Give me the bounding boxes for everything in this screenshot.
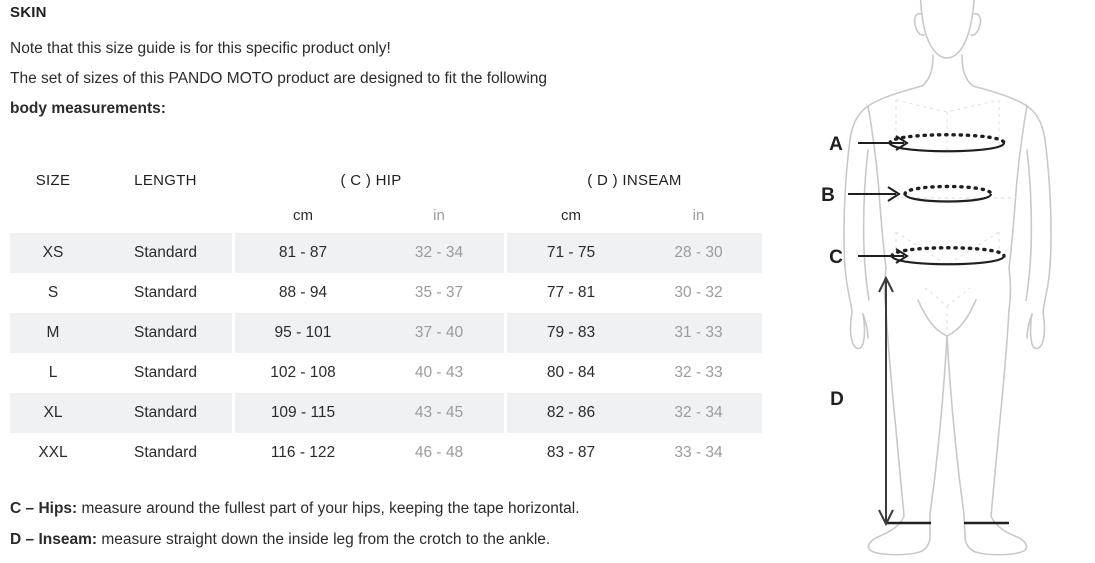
table-row: XXLStandard116 - 12246 - 4883 - 8733 - 3…	[10, 433, 762, 473]
cell-size: M	[10, 313, 96, 353]
column-header-hip: ( C ) HIP	[235, 163, 507, 197]
unit-header-inseam-cm: cm	[507, 197, 635, 233]
cell-hip-cm: 81 - 87	[235, 233, 371, 273]
size-guide-left-panel: SKIN Note that this size guide is for th…	[0, 0, 800, 563]
table-unit-header-row: cm in cm in	[10, 197, 762, 233]
cell-hip-in: 40 - 43	[371, 353, 507, 393]
cell-length: Standard	[96, 313, 235, 353]
table-row: XLStandard109 - 11543 - 4582 - 8632 - 34	[10, 393, 762, 433]
footnote-code: D	[10, 531, 21, 548]
inseam-measure-arrow	[879, 278, 893, 524]
cell-inseam-cm: 77 - 81	[507, 273, 635, 313]
cell-inseam-in: 32 - 34	[635, 393, 762, 433]
cell-length: Standard	[96, 233, 235, 273]
unit-header-spacer-size	[10, 197, 96, 233]
cell-length: Standard	[96, 393, 235, 433]
measurement-band-waist	[905, 187, 991, 202]
intro-line: Note that this size guide is for this sp…	[10, 40, 391, 58]
footnote-term: Inseam:	[38, 531, 97, 548]
cell-inseam-cm: 71 - 75	[507, 233, 635, 273]
pointer-arrows	[848, 136, 907, 263]
cell-length: Standard	[96, 353, 235, 393]
mannequin-outline	[844, 0, 1051, 555]
cell-inseam-in: 31 - 33	[635, 313, 762, 353]
size-chart-body: XSStandard81 - 8732 - 3471 - 7528 - 30SS…	[10, 233, 762, 473]
cell-inseam-cm: 79 - 83	[507, 313, 635, 353]
cell-length: Standard	[96, 273, 235, 313]
footnote-code: C	[10, 500, 21, 517]
cell-size: S	[10, 273, 96, 313]
cell-hip-in: 35 - 37	[371, 273, 507, 313]
footnote-dash: –	[21, 500, 38, 517]
cell-inseam-in: 32 - 33	[635, 353, 762, 393]
footnote-text: measure around the fullest part of your …	[77, 500, 579, 517]
table-row: SStandard88 - 9435 - 3777 - 8130 - 32	[10, 273, 762, 313]
cell-inseam-cm: 82 - 86	[507, 393, 635, 433]
cell-hip-cm: 95 - 101	[235, 313, 371, 353]
page-title: SKIN	[10, 4, 47, 21]
unit-header-spacer-length	[96, 197, 235, 233]
size-chart-table: SIZE LENGTH ( C ) HIP ( D ) INSEAM cm in…	[10, 163, 762, 473]
cell-size: L	[10, 353, 96, 393]
footnote-inseam: D – Inseam: measure straight down the in…	[10, 531, 550, 549]
table-group-header-row: SIZE LENGTH ( C ) HIP ( D ) INSEAM	[10, 163, 762, 197]
unit-header-inseam-in: in	[635, 197, 762, 233]
cell-hip-cm: 88 - 94	[235, 273, 371, 313]
table-row: XSStandard81 - 8732 - 3471 - 7528 - 30	[10, 233, 762, 273]
table-row: MStandard95 - 10137 - 4079 - 8331 - 33	[10, 313, 762, 353]
cell-inseam-in: 33 - 34	[635, 433, 762, 473]
unit-header-hip-in: in	[371, 197, 507, 233]
cell-hip-cm: 109 - 115	[235, 393, 371, 433]
cell-size: XL	[10, 393, 96, 433]
cell-hip-cm: 102 - 108	[235, 353, 371, 393]
footnote-term: Hips:	[38, 500, 77, 517]
cell-hip-in: 46 - 48	[371, 433, 507, 473]
diagram-label-c: C	[829, 247, 843, 268]
footnote-hips: C – Hips: measure around the fullest par…	[10, 500, 580, 518]
cell-hip-in: 32 - 34	[371, 233, 507, 273]
cell-inseam-in: 28 - 30	[635, 233, 762, 273]
cell-inseam-cm: 80 - 84	[507, 353, 635, 393]
footnote-text: measure straight down the inside leg fro…	[97, 531, 550, 548]
unit-header-hip-cm: cm	[235, 197, 371, 233]
column-header-size: SIZE	[10, 163, 96, 197]
cell-hip-in: 43 - 45	[371, 393, 507, 433]
cell-hip-cm: 116 - 122	[235, 433, 371, 473]
intro-line: body measurements:	[10, 100, 166, 118]
cell-inseam-cm: 83 - 87	[507, 433, 635, 473]
footnote-dash: –	[21, 531, 38, 548]
cell-inseam-in: 30 - 32	[635, 273, 762, 313]
diagram-label-b: B	[821, 185, 835, 206]
intro-line: The set of sizes of this PANDO MOTO prod…	[10, 70, 547, 88]
cell-hip-in: 37 - 40	[371, 313, 507, 353]
diagram-label-a: A	[829, 134, 843, 155]
table-row: LStandard102 - 10840 - 4380 - 8432 - 33	[10, 353, 762, 393]
diagram-label-d: D	[830, 389, 844, 410]
column-header-inseam: ( D ) INSEAM	[507, 163, 762, 197]
cell-size: XXL	[10, 433, 96, 473]
column-header-length: LENGTH	[96, 163, 235, 197]
body-measurement-diagram: A B C D	[800, 0, 1095, 563]
cell-length: Standard	[96, 433, 235, 473]
cell-size: XS	[10, 233, 96, 273]
